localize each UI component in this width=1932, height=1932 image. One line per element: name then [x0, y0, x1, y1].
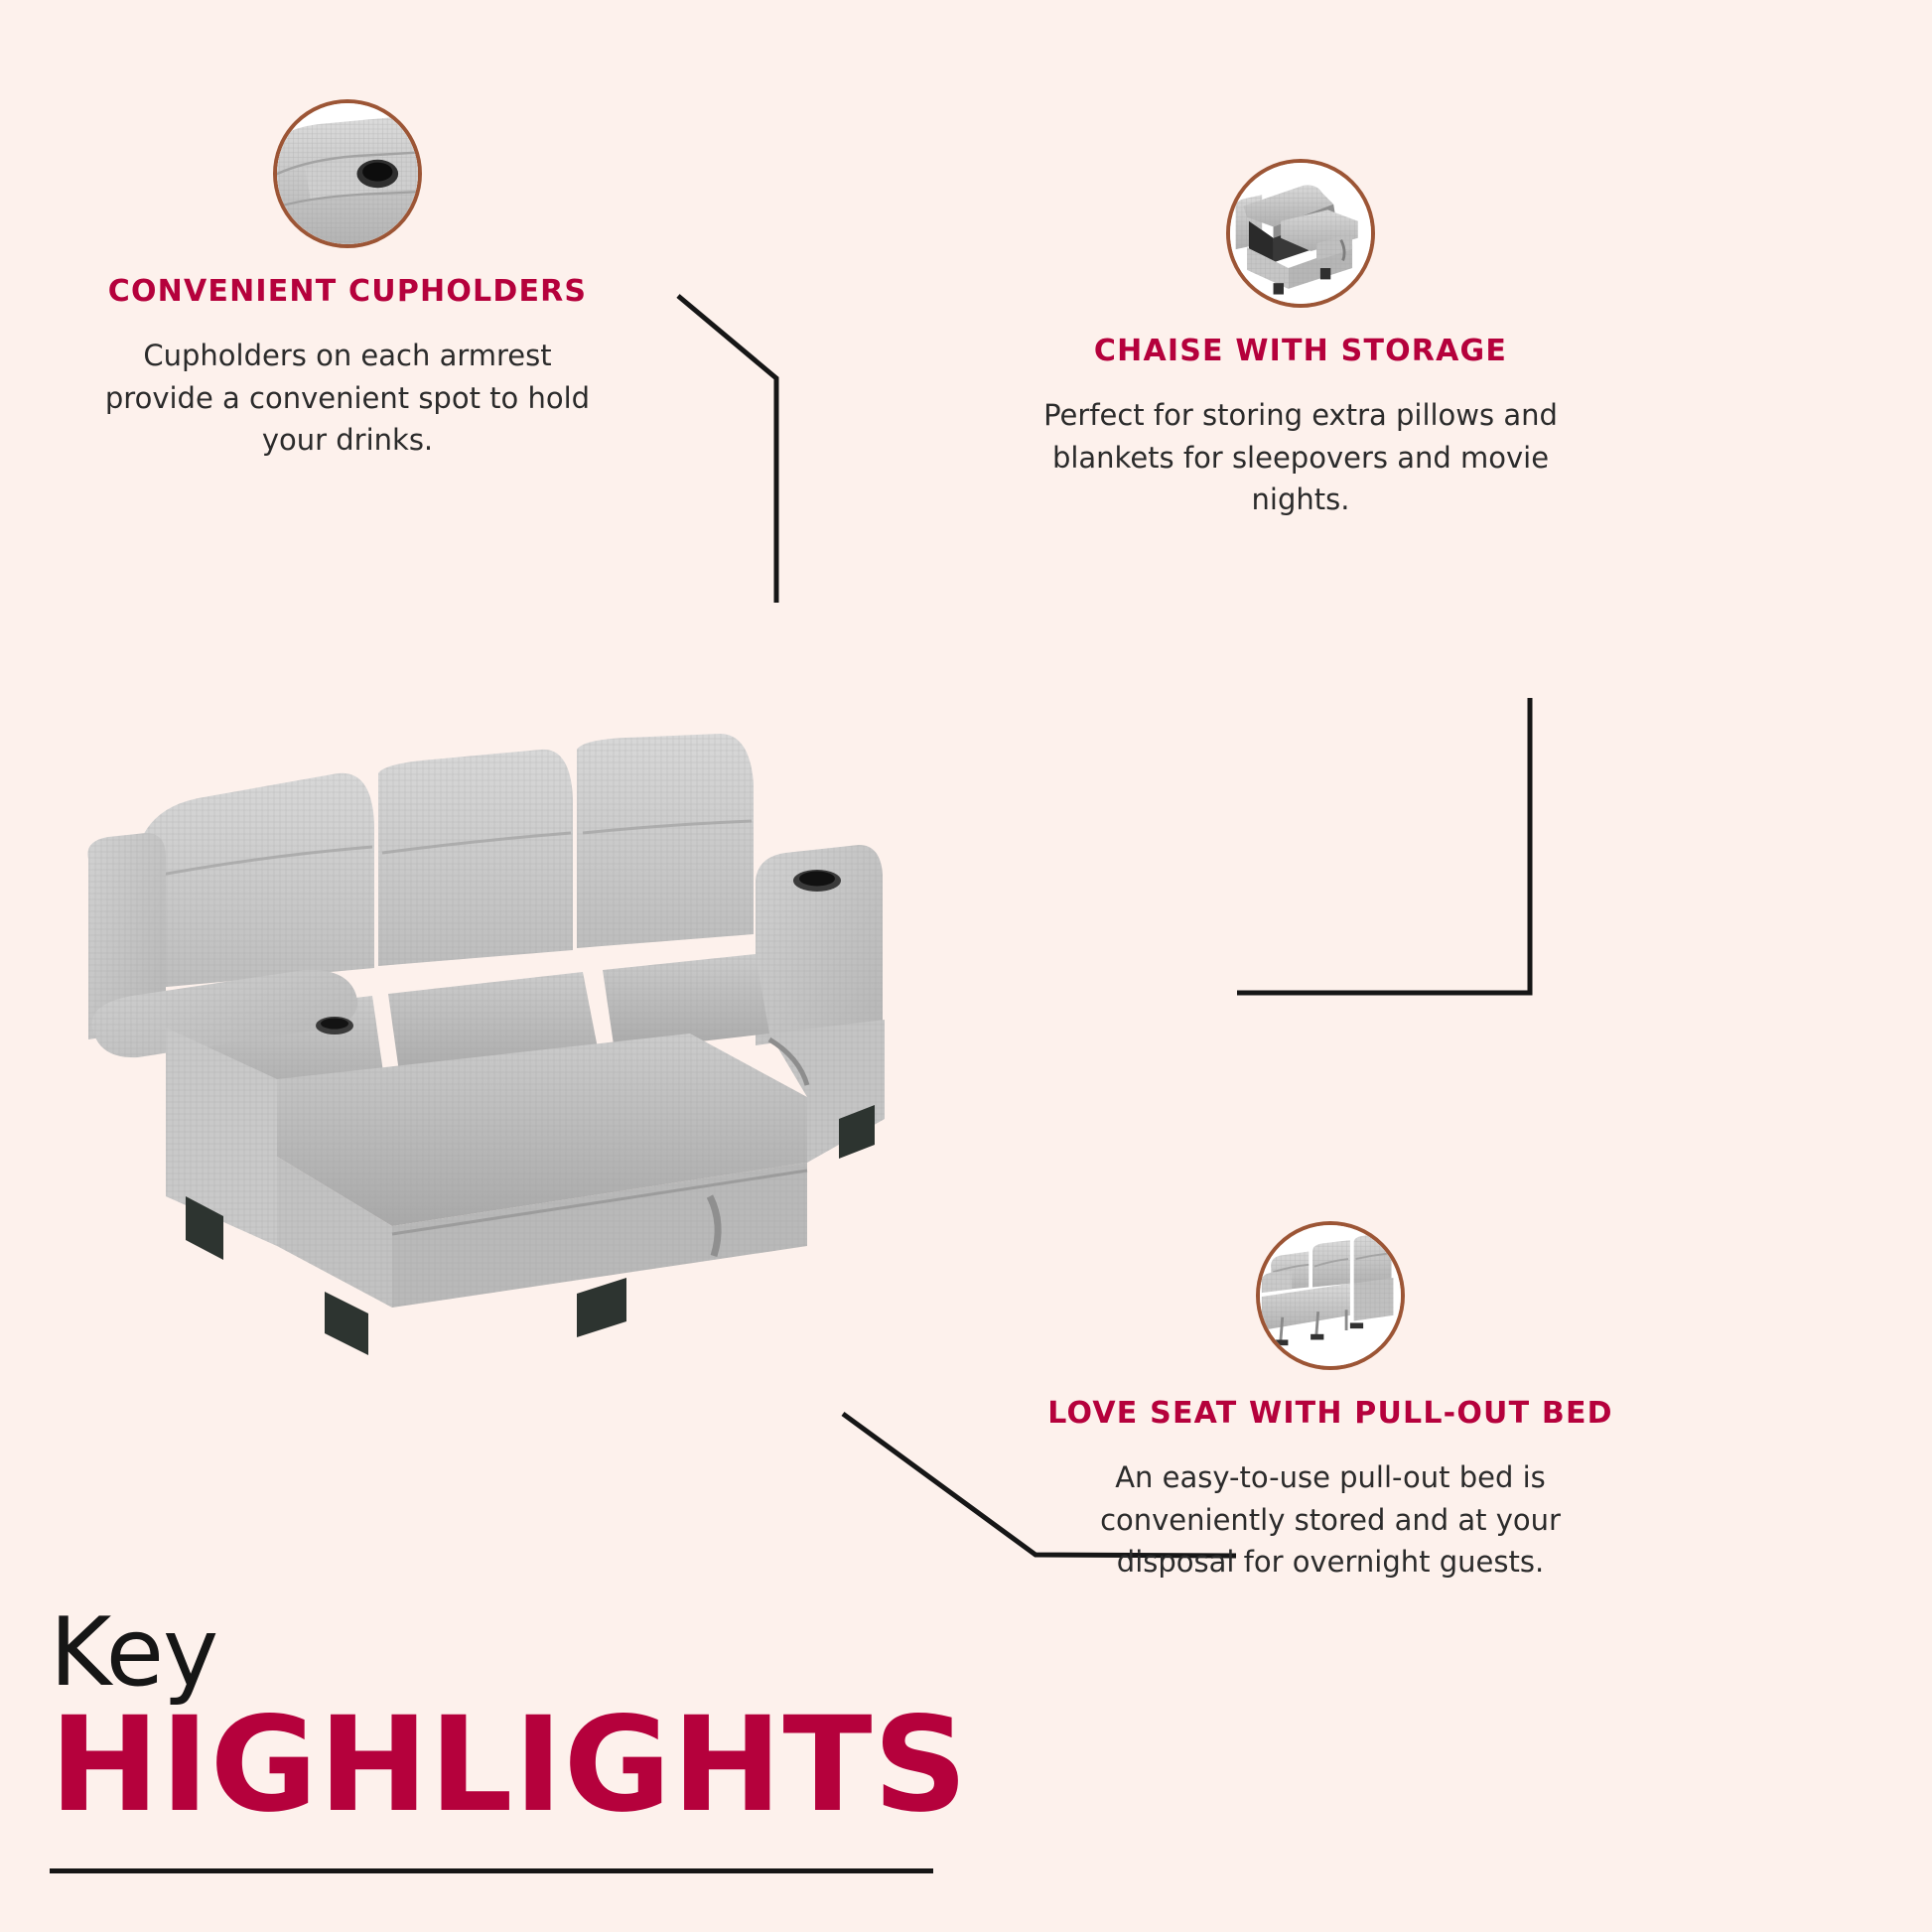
title-key: Key [50, 1608, 1003, 1698]
cupholder-armrest-icon [273, 99, 422, 248]
feature-pullout: LOVE SEAT WITH PULL-OUT BED An easy-to-u… [1023, 1221, 1638, 1584]
sofa-right-arm-cupholder [756, 845, 883, 1045]
connector-cupholders [678, 296, 776, 603]
sofa-chaise-storage [277, 1034, 807, 1308]
feature-body: Perfect for storing extra pillows and bl… [1023, 394, 1579, 522]
sofa-back-cushions [134, 734, 754, 990]
chaise-storage-icon [1226, 159, 1375, 308]
feature-title: LOVE SEAT WITH PULL-OUT BED [1023, 1396, 1638, 1433]
infographic-canvas: CONVENIENT CUPHOLDERS Cupholders on each… [0, 0, 1932, 1932]
feature-title: CONVENIENT CUPHOLDERS [40, 274, 655, 311]
feature-body: Cupholders on each armrest provide a con… [99, 335, 596, 463]
title-underline [50, 1868, 933, 1873]
feature-cupholders: CONVENIENT CUPHOLDERS Cupholders on each… [40, 99, 655, 462]
pull-out-bed-icon [1256, 1221, 1405, 1370]
page-title-block: Key HIGHLIGHTS [50, 1608, 1003, 1873]
feature-storage: CHAISE WITH STORAGE Perfect for storing … [993, 159, 1608, 521]
title-highlights: HIGHLIGHTS [50, 1700, 1003, 1831]
feature-title: CHAISE WITH STORAGE [993, 334, 1608, 370]
hero-sofa-image [74, 730, 1028, 1385]
connector-storage [1237, 698, 1530, 993]
feature-body: An easy-to-use pull-out bed is convenien… [1062, 1456, 1598, 1585]
